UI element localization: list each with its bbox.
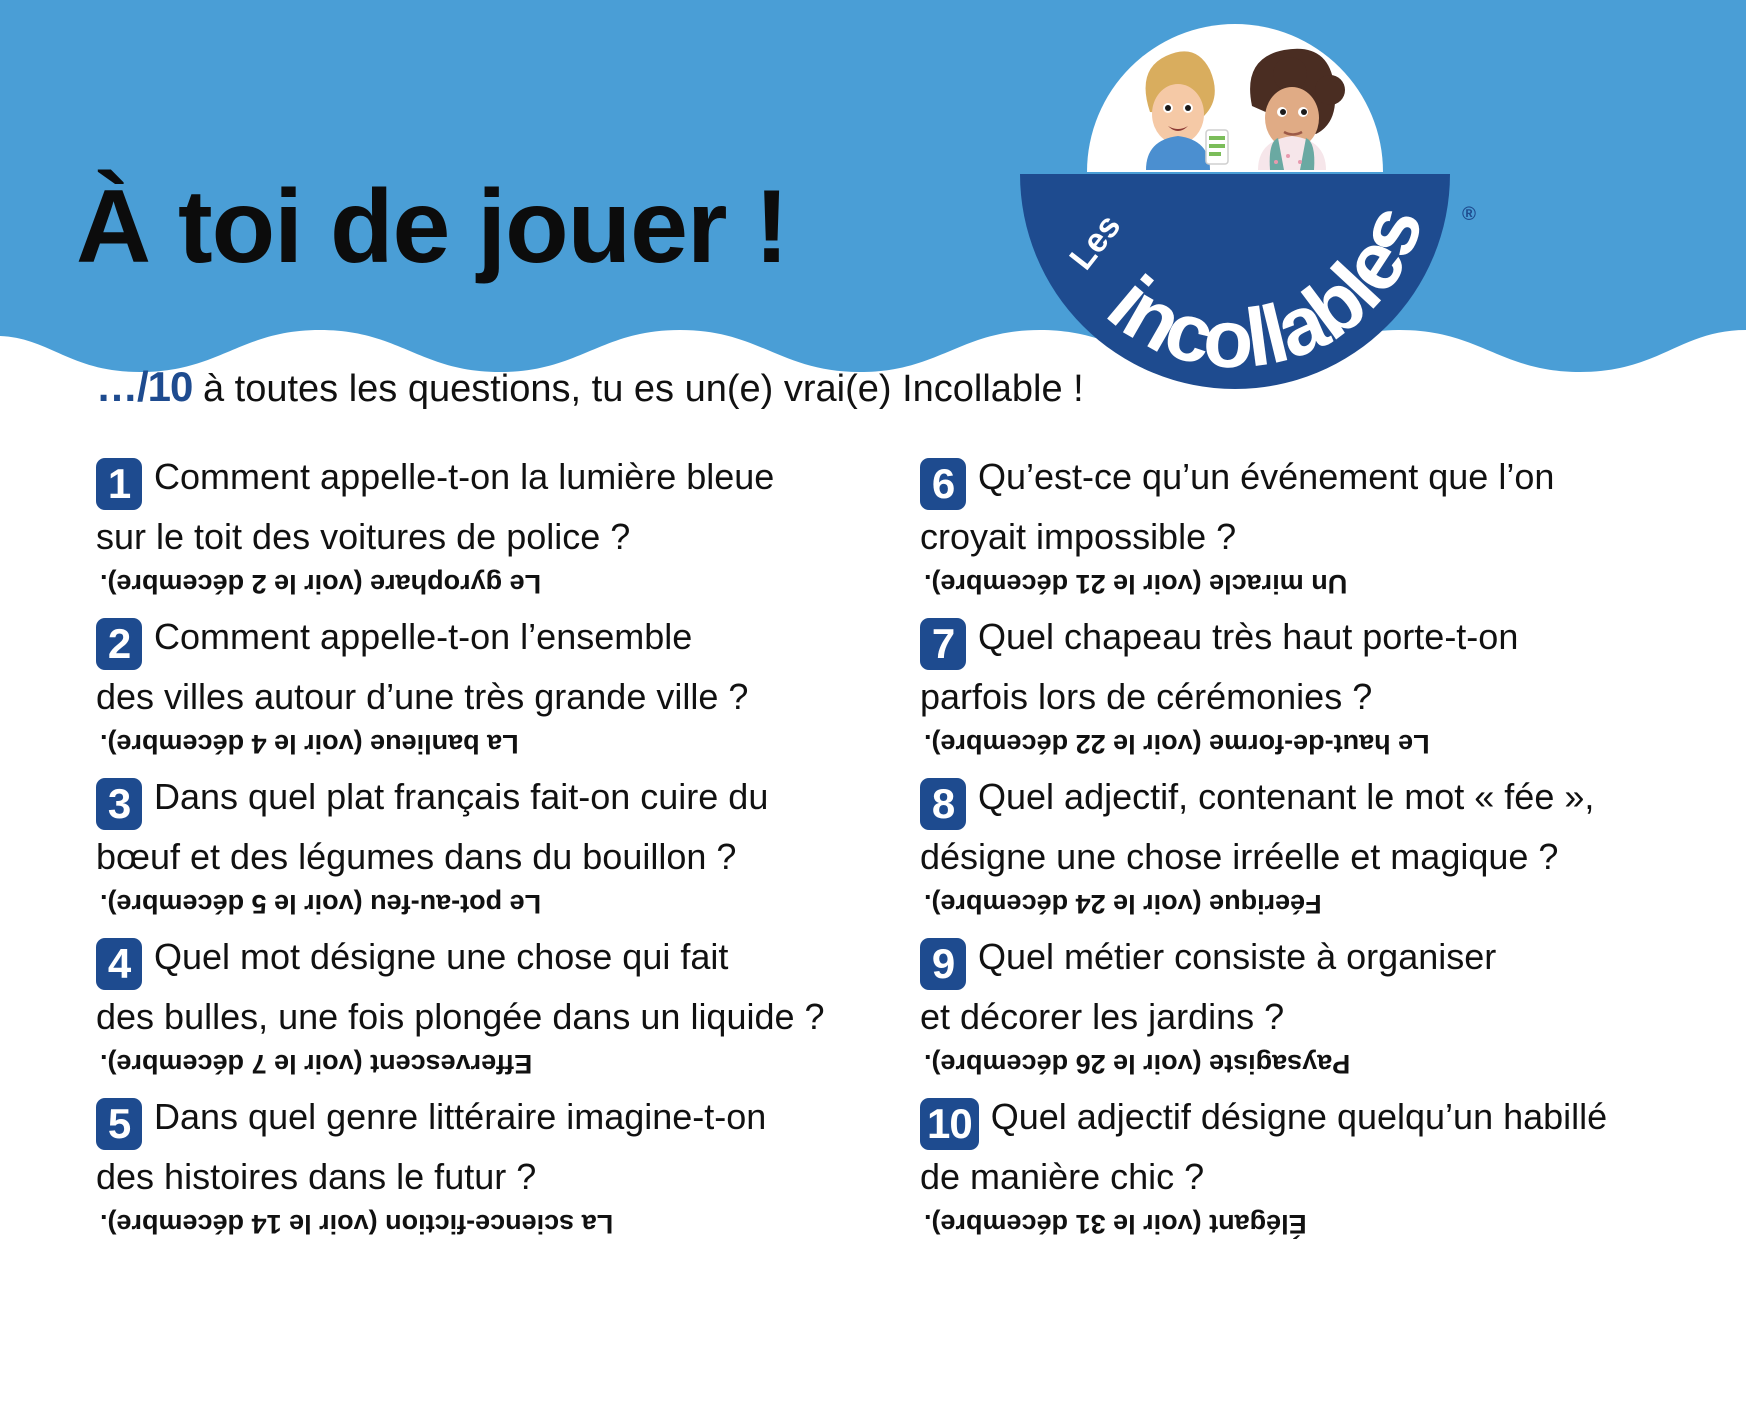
question-line-1: Dans quel plat français fait-on cuire du <box>154 776 768 817</box>
page-title: À toi de jouer ! <box>76 168 788 287</box>
questions-columns: 1Comment appelle-t-on la lumière bleue s… <box>0 452 1746 1252</box>
questions-column-right: 6Qu’est-ce qu’un événement que l’on croy… <box>906 452 1716 1252</box>
question-row: 5Dans quel genre littéraire imagine-t-on <box>96 1092 878 1150</box>
qa-block: 4Quel mot désigne une chose qui fait des… <box>96 932 878 1086</box>
question-number-badge: 7 <box>920 618 966 670</box>
qa-block: 1Comment appelle-t-on la lumière bleue s… <box>96 452 878 606</box>
questions-column-left: 1Comment appelle-t-on la lumière bleue s… <box>82 452 892 1252</box>
question-line-2: de manière chic ? <box>920 1152 1702 1202</box>
answer-text: Effervescent (voir le 7 décembre). <box>96 1042 878 1086</box>
question-line-1: Qu’est-ce qu’un événement que l’on <box>978 456 1554 497</box>
answer-text: Élégant (voir le 31 décembre). <box>920 1202 1702 1246</box>
qa-block: 6Qu’est-ce qu’un événement que l’on croy… <box>920 452 1702 606</box>
quiz-page: À toi de jouer ! <box>0 0 1746 1402</box>
question-row: 1Comment appelle-t-on la lumière bleue <box>96 452 878 510</box>
registered-mark-icon: ® <box>1462 204 1476 226</box>
question-line-2: parfois lors de cérémonies ? <box>920 672 1702 722</box>
score-line: …/10 à toutes les questions, tu es un(e)… <box>96 363 1084 411</box>
answer-text: Le haut-de-forme (voir le 22 décembre). <box>920 722 1702 766</box>
question-line-1: Quel chapeau très haut porte-t-on <box>978 616 1518 657</box>
question-number-badge: 8 <box>920 778 966 830</box>
question-line-2: des bulles, une fois plongée dans un liq… <box>96 992 878 1042</box>
qa-block: 5Dans quel genre littéraire imagine-t-on… <box>96 1092 878 1246</box>
question-line-1: Quel métier consiste à organiser <box>978 936 1496 977</box>
question-row: 7Quel chapeau très haut porte-t-on <box>920 612 1702 670</box>
score-caption: à toutes les questions, tu es un(e) vrai… <box>192 368 1083 410</box>
qa-block: 3Dans quel plat français fait-on cuire d… <box>96 772 878 926</box>
question-line-2: bœuf et des légumes dans du bouillon ? <box>96 832 878 882</box>
question-row: 2Comment appelle-t-on l’ensemble <box>96 612 878 670</box>
answer-text: Le gyrophare (voir le 2 décembre). <box>96 562 878 606</box>
question-number-badge: 2 <box>96 618 142 670</box>
question-number-badge: 1 <box>96 458 142 510</box>
question-row: 9Quel métier consiste à organiser <box>920 932 1702 990</box>
question-line-1: Quel adjectif, contenant le mot « fée », <box>978 776 1594 817</box>
question-line-2: des villes autour d’une très grande vill… <box>96 672 878 722</box>
answer-text: Le pot-au-feu (voir le 5 décembre). <box>96 882 878 926</box>
qa-block: 8Quel adjectif, contenant le mot « fée »… <box>920 772 1702 926</box>
qa-block: 7Quel chapeau très haut porte-t-on parfo… <box>920 612 1702 766</box>
answer-text: La banlieue (voir le 4 décembre). <box>96 722 878 766</box>
question-line-1: Comment appelle-t-on l’ensemble <box>154 616 692 657</box>
question-number-badge: 3 <box>96 778 142 830</box>
question-row: 4Quel mot désigne une chose qui fait <box>96 932 878 990</box>
question-line-2: croyait impossible ? <box>920 512 1702 562</box>
question-row: 8Quel adjectif, contenant le mot « fée »… <box>920 772 1702 830</box>
question-line-2: des histoires dans le futur ? <box>96 1152 878 1202</box>
question-line-2: et décorer les jardins ? <box>920 992 1702 1042</box>
question-number-badge: 5 <box>96 1098 142 1150</box>
question-line-1: Comment appelle-t-on la lumière bleue <box>154 456 774 497</box>
answer-text: Un miracle (voir le 21 décembre). <box>920 562 1702 606</box>
question-line-2: désigne une chose irréelle et magique ? <box>920 832 1702 882</box>
answer-text: Paysagiste (voir le 26 décembre). <box>920 1042 1702 1086</box>
question-number-badge: 9 <box>920 938 966 990</box>
question-line-1: Quel mot désigne une chose qui fait <box>154 936 728 977</box>
qa-block: 2Comment appelle-t-on l’ensemble des vil… <box>96 612 878 766</box>
question-number-badge: 4 <box>96 938 142 990</box>
question-row: 10Quel adjectif désigne quelqu’un habill… <box>920 1092 1702 1150</box>
question-line-2: sur le toit des voitures de police ? <box>96 512 878 562</box>
qa-block: 10Quel adjectif désigne quelqu’un habill… <box>920 1092 1702 1246</box>
question-number-badge: 10 <box>920 1098 979 1150</box>
les-incollables-logo: Les incollables ® <box>1000 152 1470 452</box>
question-line-1: Dans quel genre littéraire imagine-t-on <box>154 1096 766 1137</box>
answer-text: Féerique (voir le 24 décembre). <box>920 882 1702 926</box>
question-row: 6Qu’est-ce qu’un événement que l’on <box>920 452 1702 510</box>
question-number-badge: 6 <box>920 458 966 510</box>
qa-block: 9Quel métier consiste à organiser et déc… <box>920 932 1702 1086</box>
score-fraction: …/10 <box>96 363 192 410</box>
question-line-1: Quel adjectif désigne quelqu’un habillé <box>991 1096 1607 1137</box>
answer-text: La science-fiction (voir le 14 décembre)… <box>96 1202 878 1246</box>
question-row: 3Dans quel plat français fait-on cuire d… <box>96 772 878 830</box>
